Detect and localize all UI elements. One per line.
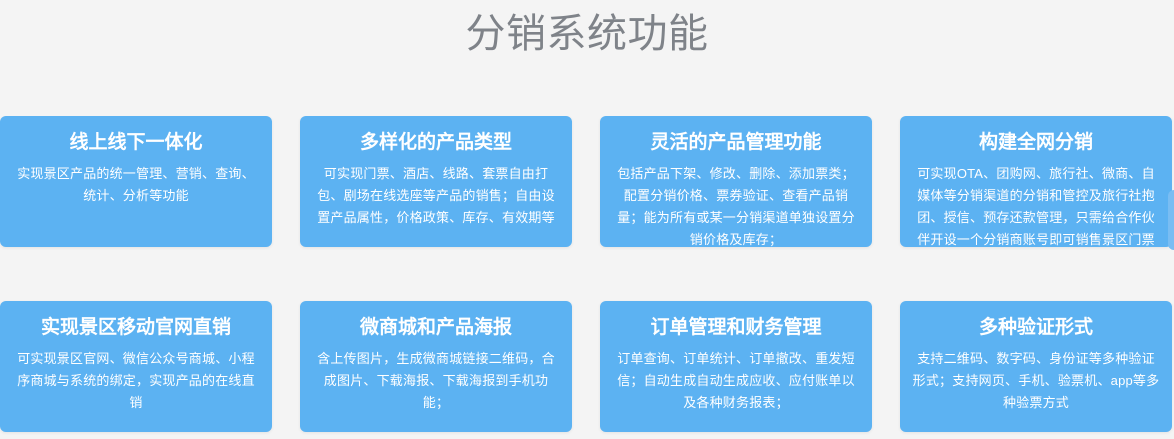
feature-card-title: 订单管理和财务管理 xyxy=(612,315,860,341)
feature-cards-viewport: 线上线下一体化 实现景区产品的统一管理、营销、查询、统计、分析等功能 多样化的产… xyxy=(0,116,1174,439)
feature-card-title: 多种验证形式 xyxy=(912,315,1160,341)
feature-card-body: 包括产品下架、修改、删除、添加票类；配置分销价格、票券验证、查看产品销量；能为所… xyxy=(612,163,860,247)
feature-card-micro-mall-and-product-poster[interactable]: 微商城和产品海报 含上传图片，生成微商城链接二维码，合成图片、下载海报、下载海报… xyxy=(300,301,572,432)
feature-card-body: 支持二维码、数字码、身份证等多种验证形式；支持网页、手机、验票机、app等多种验… xyxy=(912,348,1160,414)
feature-card-title: 构建全网分销 xyxy=(912,130,1160,156)
page-title: 分销系统功能 xyxy=(0,8,1174,60)
feature-card-body: 可实现门票、酒店、线路、套票自由打包、剧场在线选座等产品的销售；自由设置产品属性… xyxy=(312,163,560,229)
feature-card-build-full-network-distribution[interactable]: 构建全网分销 可实现OTA、团购网、旅行社、微商、自媒体等分销渠道的分销和管控及… xyxy=(900,116,1172,247)
feature-card-row-1: 线上线下一体化 实现景区产品的统一管理、营销、查询、统计、分析等功能 多样化的产… xyxy=(0,116,1174,247)
feature-card-title: 微商城和产品海报 xyxy=(312,315,560,341)
feature-card-online-offline-integration[interactable]: 线上线下一体化 实现景区产品的统一管理、营销、查询、统计、分析等功能 xyxy=(0,116,272,247)
feature-section: 分销系统功能 线上线下一体化 实现景区产品的统一管理、营销、查询、统计、分析等功… xyxy=(0,0,1174,439)
next-card-peek[interactable] xyxy=(1168,190,1174,250)
feature-card-flexible-product-management[interactable]: 灵活的产品管理功能 包括产品下架、修改、删除、添加票类；配置分销价格、票券验证、… xyxy=(600,116,872,247)
feature-card-row-2: 实现景区移动官网直销 可实现景区官网、微信公众号商城、小程序商城与系统的绑定，实… xyxy=(0,301,1174,432)
feature-card-title: 多样化的产品类型 xyxy=(312,130,560,156)
feature-card-scenic-mobile-official-site-direct-sales[interactable]: 实现景区移动官网直销 可实现景区官网、微信公众号商城、小程序商城与系统的绑定，实… xyxy=(0,301,272,432)
feature-card-title: 实现景区移动官网直销 xyxy=(12,315,260,341)
feature-card-body: 含上传图片，生成微商城链接二维码，合成图片、下载海报、下载海报到手机功能； xyxy=(312,348,560,414)
feature-card-body: 可实现景区官网、微信公众号商城、小程序商城与系统的绑定，实现产品的在线直销 xyxy=(12,348,260,414)
feature-card-order-and-finance-management[interactable]: 订单管理和财务管理 订单查询、订单统计、订单撤改、重发短信；自动生成自动生成应收… xyxy=(600,301,872,432)
feature-card-body: 实现景区产品的统一管理、营销、查询、统计、分析等功能 xyxy=(12,163,260,207)
feature-card-body: 订单查询、订单统计、订单撤改、重发短信；自动生成自动生成应收、应付账单以及各种财… xyxy=(612,348,860,414)
feature-card-body: 可实现OTA、团购网、旅行社、微商、自媒体等分销渠道的分销和管控及旅行社抱团、授… xyxy=(912,163,1160,247)
feature-card-diverse-product-types[interactable]: 多样化的产品类型 可实现门票、酒店、线路、套票自由打包、剧场在线选座等产品的销售… xyxy=(300,116,572,247)
feature-card-title: 线上线下一体化 xyxy=(12,130,260,156)
feature-card-multiple-verification-methods[interactable]: 多种验证形式 支持二维码、数字码、身份证等多种验证形式；支持网页、手机、验票机、… xyxy=(900,301,1172,432)
feature-card-title: 灵活的产品管理功能 xyxy=(612,130,860,156)
